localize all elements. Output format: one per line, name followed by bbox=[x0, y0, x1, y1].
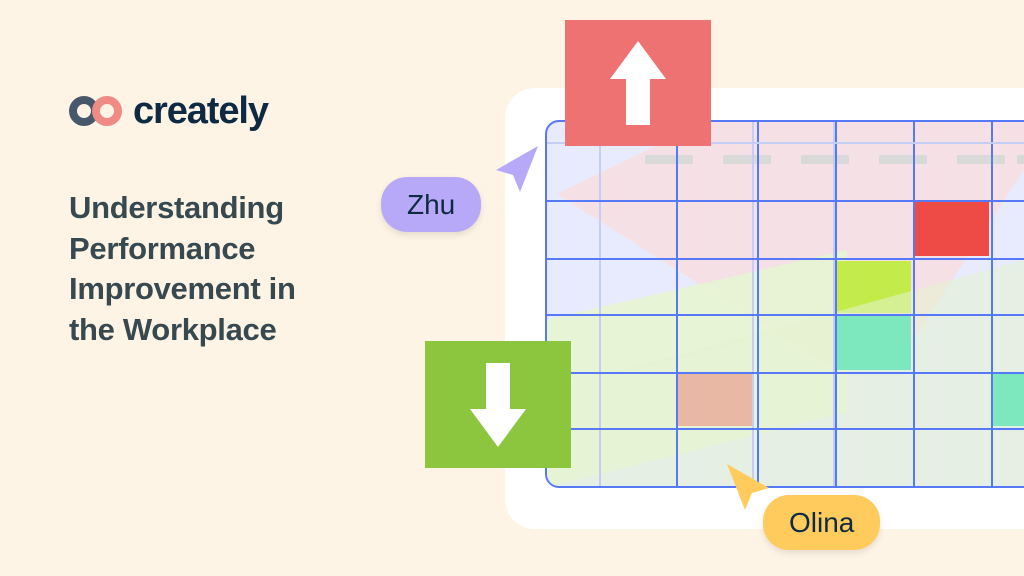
header-placeholder bbox=[879, 155, 927, 164]
header-placeholder bbox=[801, 155, 849, 164]
zhu-name-label: Zhu bbox=[407, 189, 455, 221]
olina-name-pill[interactable]: Olina bbox=[763, 495, 880, 550]
green-wedge-overlay bbox=[547, 122, 1024, 488]
interlocking-rings-icon bbox=[69, 96, 122, 126]
green-wedge-overlay-top bbox=[547, 122, 1024, 488]
grid-column-divider bbox=[991, 122, 993, 486]
decrease-tile[interactable] bbox=[425, 341, 571, 468]
lime-cell[interactable] bbox=[835, 261, 911, 313]
grid-column-divider bbox=[599, 122, 601, 486]
zhu-cursor-arrow-icon bbox=[494, 144, 540, 194]
red-wedge-overlay bbox=[547, 122, 1024, 488]
grid-column-divider bbox=[757, 122, 759, 486]
brand-logo[interactable]: creately bbox=[69, 92, 268, 130]
page-title: Understanding Performance Improvement in… bbox=[69, 188, 389, 350]
olina-cursor-arrow-icon bbox=[725, 462, 771, 512]
red-cell[interactable] bbox=[913, 202, 989, 256]
grid-column-divider bbox=[913, 122, 915, 486]
spreadsheet-grid[interactable] bbox=[545, 120, 1024, 488]
increase-tile[interactable] bbox=[565, 20, 711, 146]
header-placeholder bbox=[957, 155, 1005, 164]
slide-canvas: creately Understanding Performance Impro… bbox=[0, 0, 1024, 576]
teal-cell[interactable] bbox=[835, 316, 911, 370]
grid-row-divider bbox=[547, 314, 1024, 316]
grid-column-divider bbox=[835, 122, 837, 486]
zhu-name-pill[interactable]: Zhu bbox=[381, 177, 481, 232]
grid-row-divider bbox=[547, 428, 1024, 430]
grid-row-divider bbox=[547, 200, 1024, 202]
grid-row-divider bbox=[547, 258, 1024, 260]
arrow-up-icon bbox=[608, 39, 668, 127]
grid-row-divider bbox=[547, 372, 1024, 374]
arrow-down-icon bbox=[468, 361, 528, 449]
header-placeholder bbox=[723, 155, 771, 164]
teal-cell-edge[interactable] bbox=[991, 374, 1024, 426]
salmon-cell[interactable] bbox=[676, 374, 752, 426]
grid-column-divider bbox=[752, 122, 754, 486]
header-placeholder bbox=[645, 155, 693, 164]
header-placeholder bbox=[1017, 155, 1024, 164]
grid-column-divider bbox=[676, 122, 678, 486]
olina-name-label: Olina bbox=[789, 507, 854, 539]
brand-wordmark: creately bbox=[133, 92, 268, 130]
